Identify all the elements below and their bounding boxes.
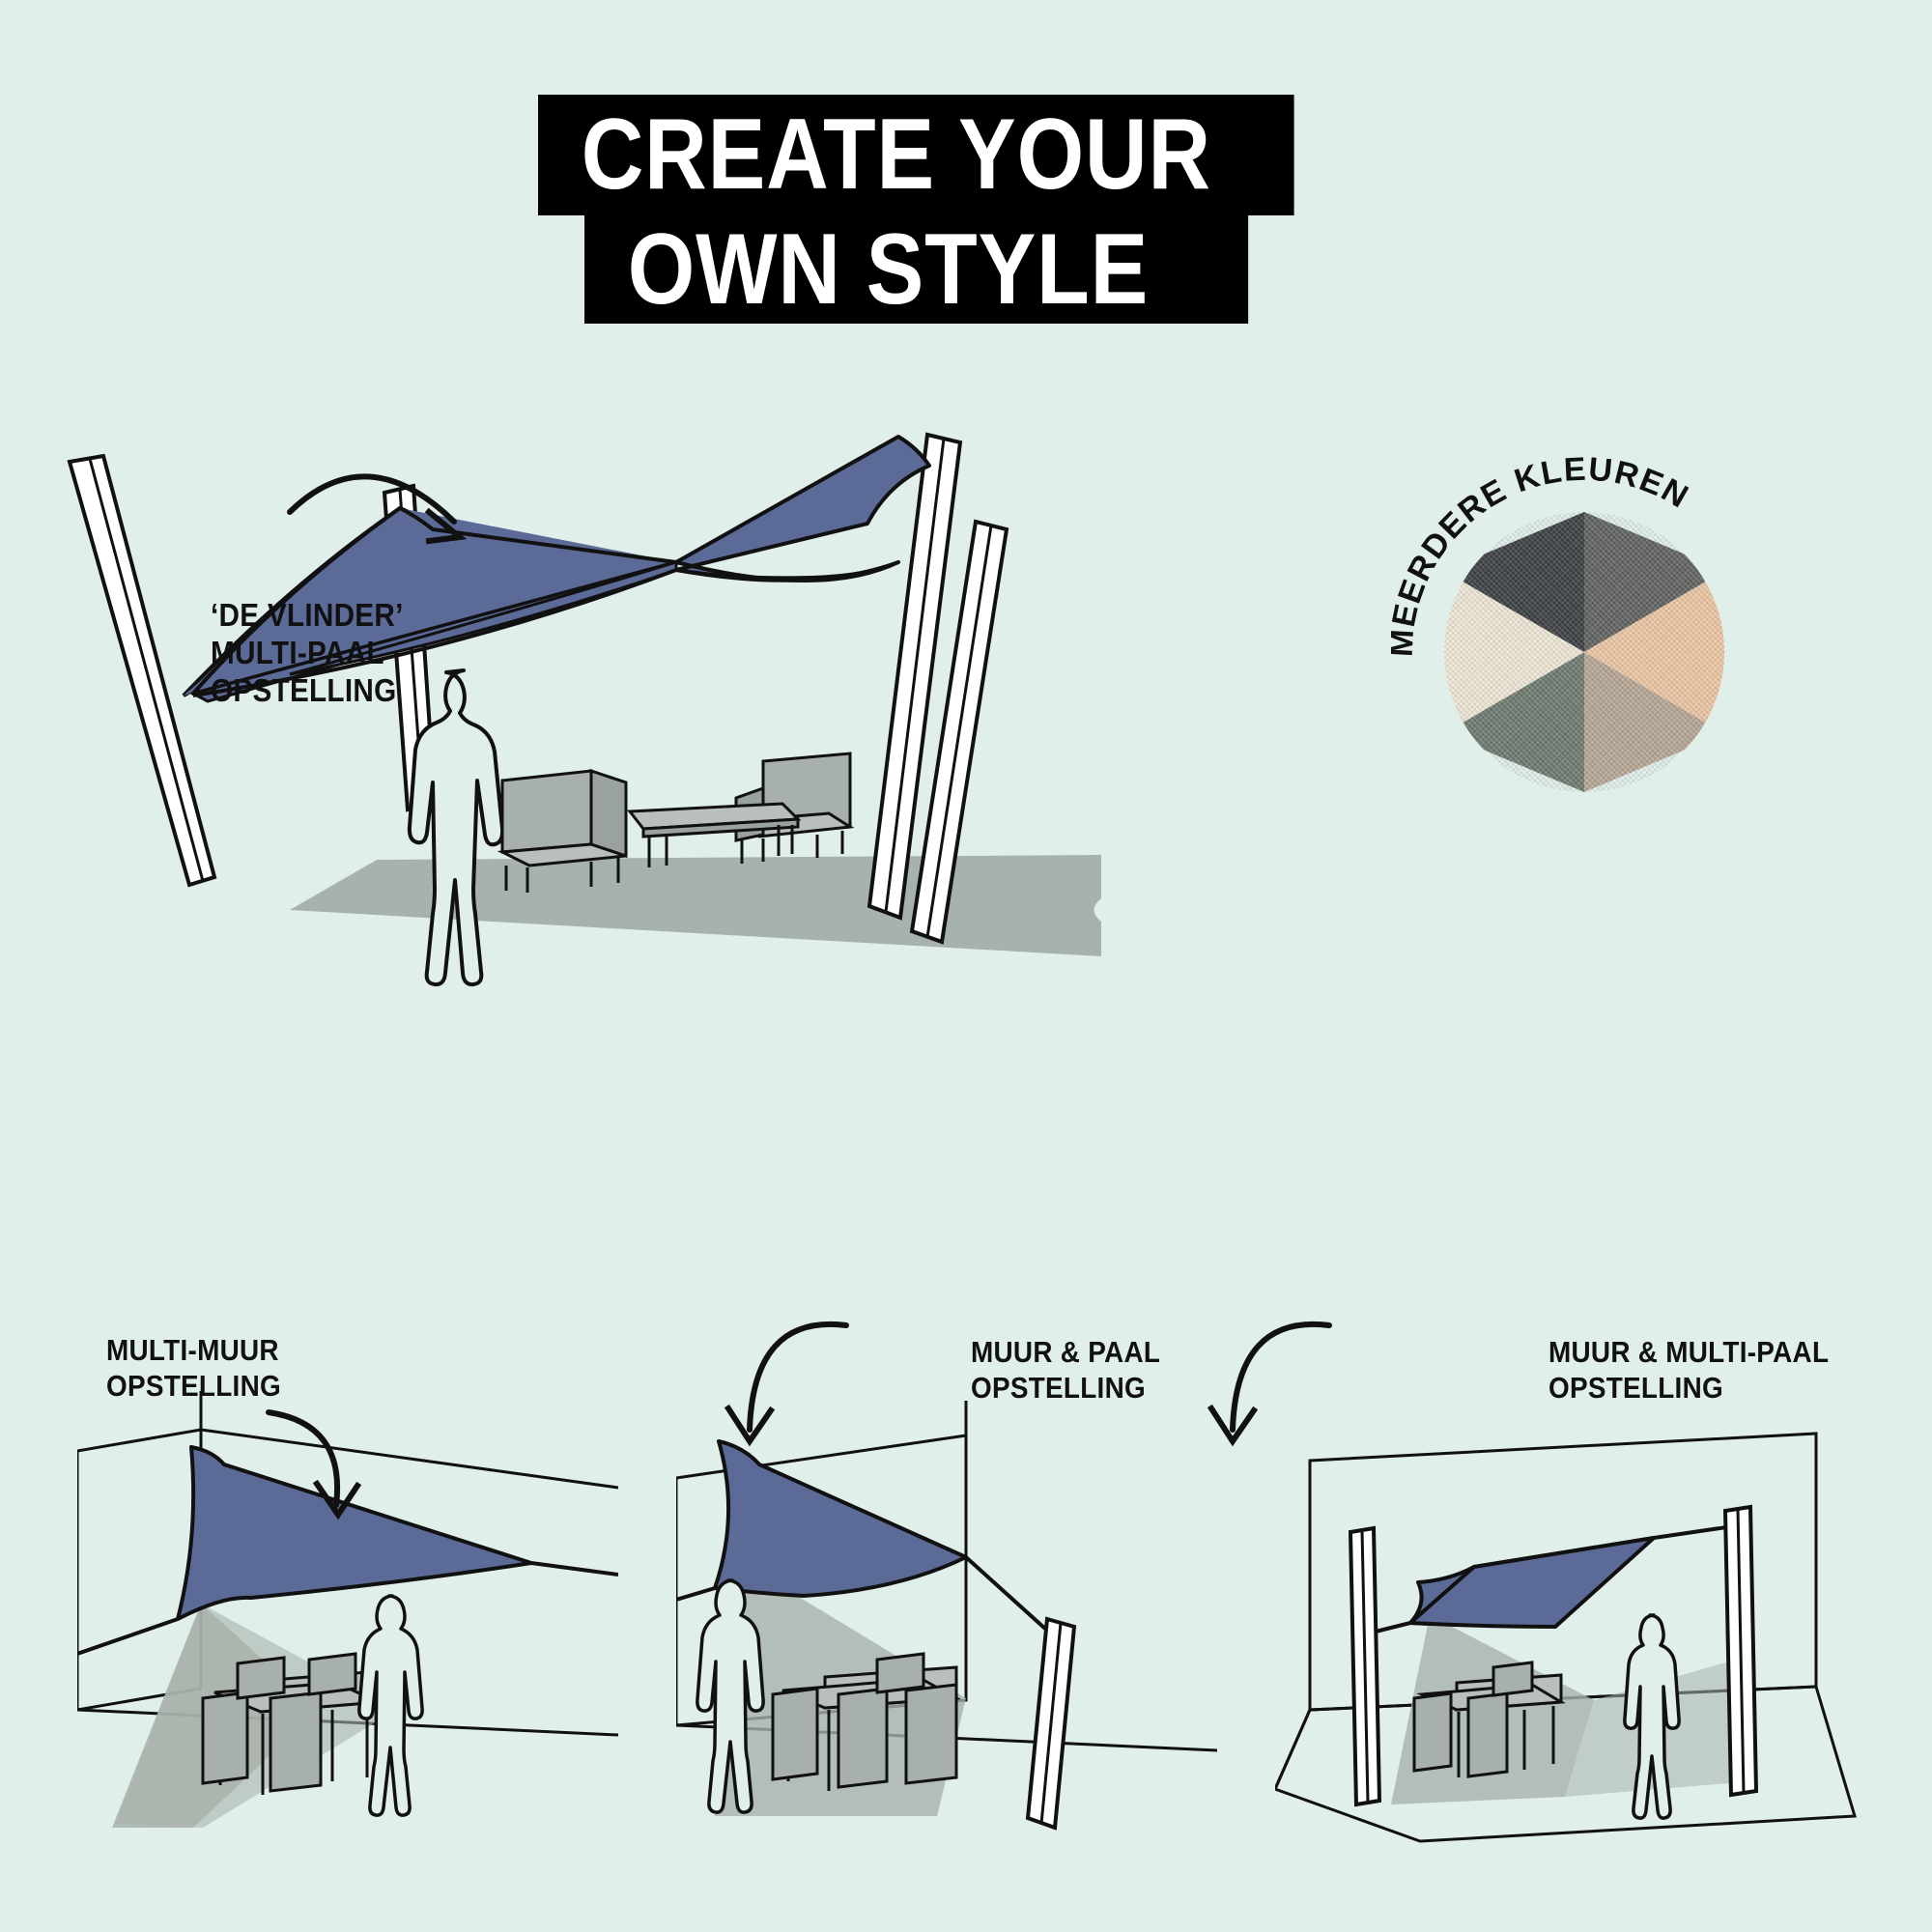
shade-sail	[178, 1447, 531, 1619]
pole-free-standing	[1028, 1619, 1074, 1828]
annotation-main-line-3: OPSTELLING	[211, 672, 396, 708]
sail-shadow-2	[116, 1604, 396, 1828]
page-title: CREATE YOUR OWN STYLE	[0, 0, 1932, 406]
annotation-bottom-right-line-1: MUUR & MULTI-PAAL	[1548, 1335, 1829, 1369]
page-title-line-2: OWN STYLE	[584, 215, 1248, 324]
fabric-swatch-icon	[1444, 512, 1724, 792]
curved-arrow-icon-bottom-middle	[638, 1285, 889, 1478]
page-title-line-1: CREATE YOUR	[538, 95, 1294, 215]
annotation-bottom-left-line-1: MULTI-MUUR	[106, 1333, 279, 1367]
person-figure	[359, 1596, 422, 1815]
pole-right	[1725, 1507, 1756, 1795]
color-wheel-group: MEERDERE KLEUREN	[1391, 386, 1845, 792]
ground-shadow	[290, 855, 1101, 956]
color-wheel	[1444, 512, 1724, 792]
pole-left	[70, 456, 214, 885]
main-illustration-vlinder	[0, 415, 1449, 1014]
annotation-main-line-1: ‘DE VLINDER’	[211, 597, 404, 633]
illustration-multi-muur	[77, 1391, 618, 1855]
infographic-page: CREATE YOUR OWN STYLE	[0, 0, 1932, 1932]
pole-left	[1350, 1528, 1379, 1804]
annotation-main-line-2: MULTI-PAAL	[211, 635, 384, 670]
annotation-main: ‘DE VLINDER’MULTI-PAALOPSTELLING	[211, 597, 404, 710]
illustration-muur-multi-paal	[1275, 1391, 1874, 1855]
